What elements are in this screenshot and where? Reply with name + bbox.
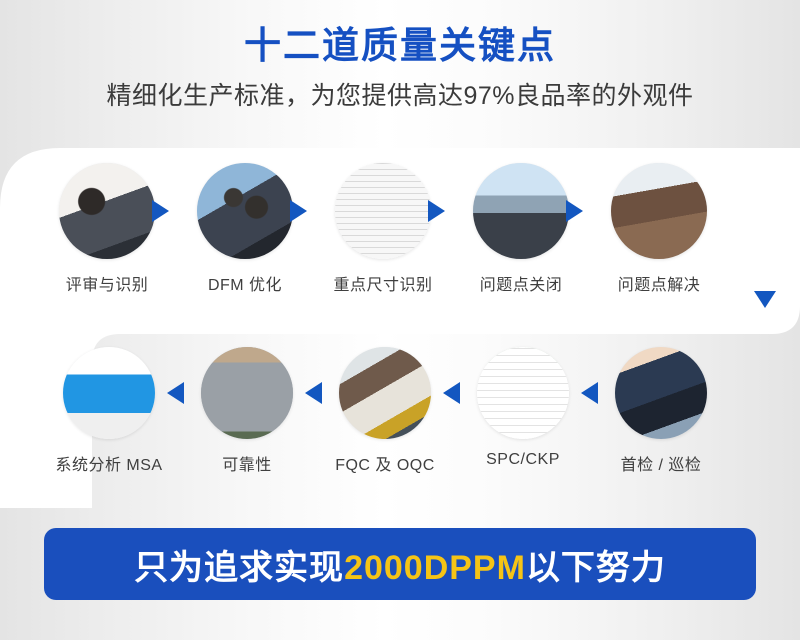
banner-highlight-value: 2000DPPM: [344, 549, 526, 587]
page-subtitle: 精细化生产标准，为您提供高达97%良品率的外观件: [0, 67, 800, 111]
arrow-left-icon: [443, 382, 460, 404]
step-key-dimension-identify[interactable]: 重点尺寸识别: [323, 163, 443, 295]
step-image-reliability: [201, 347, 293, 439]
arrow-left-icon: [305, 382, 322, 404]
step-label: 评审与识别: [47, 271, 167, 295]
step-image-dfm-optimization: [197, 163, 293, 259]
step-label: 重点尺寸识别: [323, 271, 443, 295]
step-label: 问题点解决: [599, 271, 719, 295]
step-image-first-article-patrol-inspection: [615, 347, 707, 439]
banner-text: 只为追求实现2000DPPM以下努力: [134, 540, 666, 589]
arrow-down-icon: [754, 291, 776, 308]
bottom-banner[interactable]: 只为追求实现2000DPPM以下努力: [44, 528, 756, 600]
infographic-page: 十二道质量关键点 精细化生产标准，为您提供高达97%良品率的外观件 评审与识别 …: [0, 0, 800, 640]
step-label: 首检 / 巡检: [601, 451, 721, 475]
step-reliability[interactable]: 可靠性: [187, 347, 307, 475]
banner-text-after: 以下努力: [526, 549, 666, 587]
step-label: 可靠性: [187, 451, 307, 475]
step-image-spc-ckp: [477, 347, 569, 439]
step-label: SPC/CKP: [463, 451, 583, 469]
arrow-right-icon: [152, 200, 169, 222]
step-image-review-identify: [59, 163, 155, 259]
step-label: FQC 及 OQC: [325, 451, 445, 475]
step-image-key-dimension-identify: [335, 163, 431, 259]
step-msa-system-analysis[interactable]: 系统分析 MSA: [49, 347, 169, 475]
step-issue-resolve[interactable]: 问题点解决: [599, 163, 719, 295]
arrow-right-icon: [566, 200, 583, 222]
step-label: DFM 优化: [185, 271, 305, 295]
header: 十二道质量关键点 精细化生产标准，为您提供高达97%良品率的外观件: [0, 0, 800, 111]
step-image-issue-close: [473, 163, 569, 259]
arrow-right-icon: [428, 200, 445, 222]
arrow-right-icon: [290, 200, 307, 222]
page-title: 十二道质量关键点: [0, 0, 800, 67]
step-label: 系统分析 MSA: [49, 451, 169, 475]
step-dfm-optimization[interactable]: DFM 优化: [185, 163, 305, 295]
step-review-identify[interactable]: 评审与识别: [47, 163, 167, 295]
arrow-left-icon: [581, 382, 598, 404]
banner-text-before: 只为追求实现: [134, 549, 344, 587]
step-fqc-oqc[interactable]: FQC 及 OQC: [325, 347, 445, 475]
step-issue-close[interactable]: 问题点关闭: [461, 163, 581, 295]
step-label: 问题点关闭: [461, 271, 581, 295]
step-first-article-patrol-inspection[interactable]: 首检 / 巡检: [601, 347, 721, 475]
arrow-left-icon: [167, 382, 184, 404]
step-image-msa-system-analysis: [63, 347, 155, 439]
step-image-issue-resolve: [611, 163, 707, 259]
step-spc-ckp[interactable]: SPC/CKP: [463, 347, 583, 469]
step-image-fqc-oqc: [339, 347, 431, 439]
